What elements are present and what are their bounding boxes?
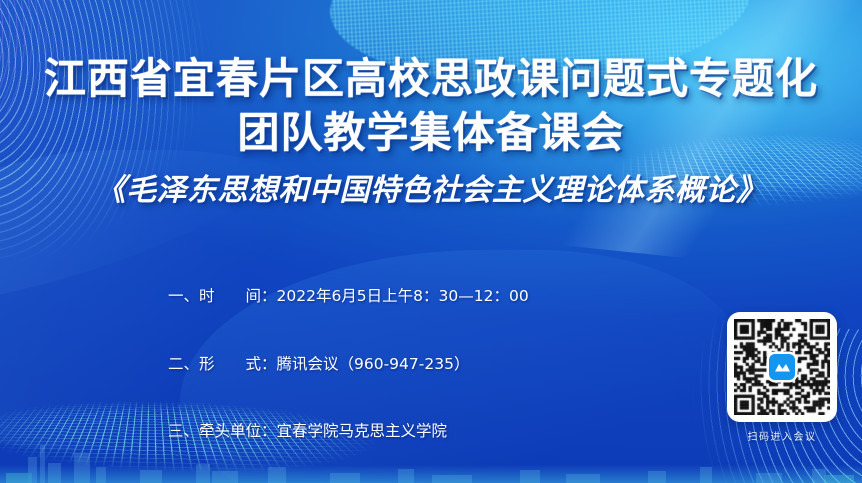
qr-code-caption: 扫码进入会议 (727, 428, 837, 443)
meeting-announcement-poster: 江西省宜春片区高校思政课问题式专题化 团队教学集体备课会 《毛泽东思想和中国特色… (0, 0, 862, 483)
page-title-line-2: 团队教学集体备课会 (0, 106, 862, 160)
details-list: 一、时 间：2022年6月5日上午8：30—12：00 二、形 式：腾讯会议（9… (168, 240, 728, 483)
qr-code-block[interactable]: 扫码进入会议 (727, 312, 837, 443)
tencent-meeting-logo-icon (769, 354, 795, 380)
poster-title-block: 江西省宜春片区高校思政课问题式专题化 团队教学集体备课会 《毛泽东思想和中国特色… (0, 52, 862, 210)
detail-item-lead-unit: 三、牵头单位：宜春学院马克思主义学院 (168, 420, 728, 443)
page-title-line-1: 江西省宜春片区高校思政课问题式专题化 (0, 52, 862, 106)
detail-item-time: 一、时 间：2022年6月5日上午8：30—12：00 (168, 285, 728, 308)
page-subtitle: 《毛泽东思想和中国特色社会主义理论体系概论》 (0, 172, 862, 210)
qr-code-card[interactable] (727, 312, 837, 422)
detail-item-format: 二、形 式：腾讯会议（960-947-235） (168, 353, 728, 376)
meeting-mountain-glyph (774, 361, 791, 373)
